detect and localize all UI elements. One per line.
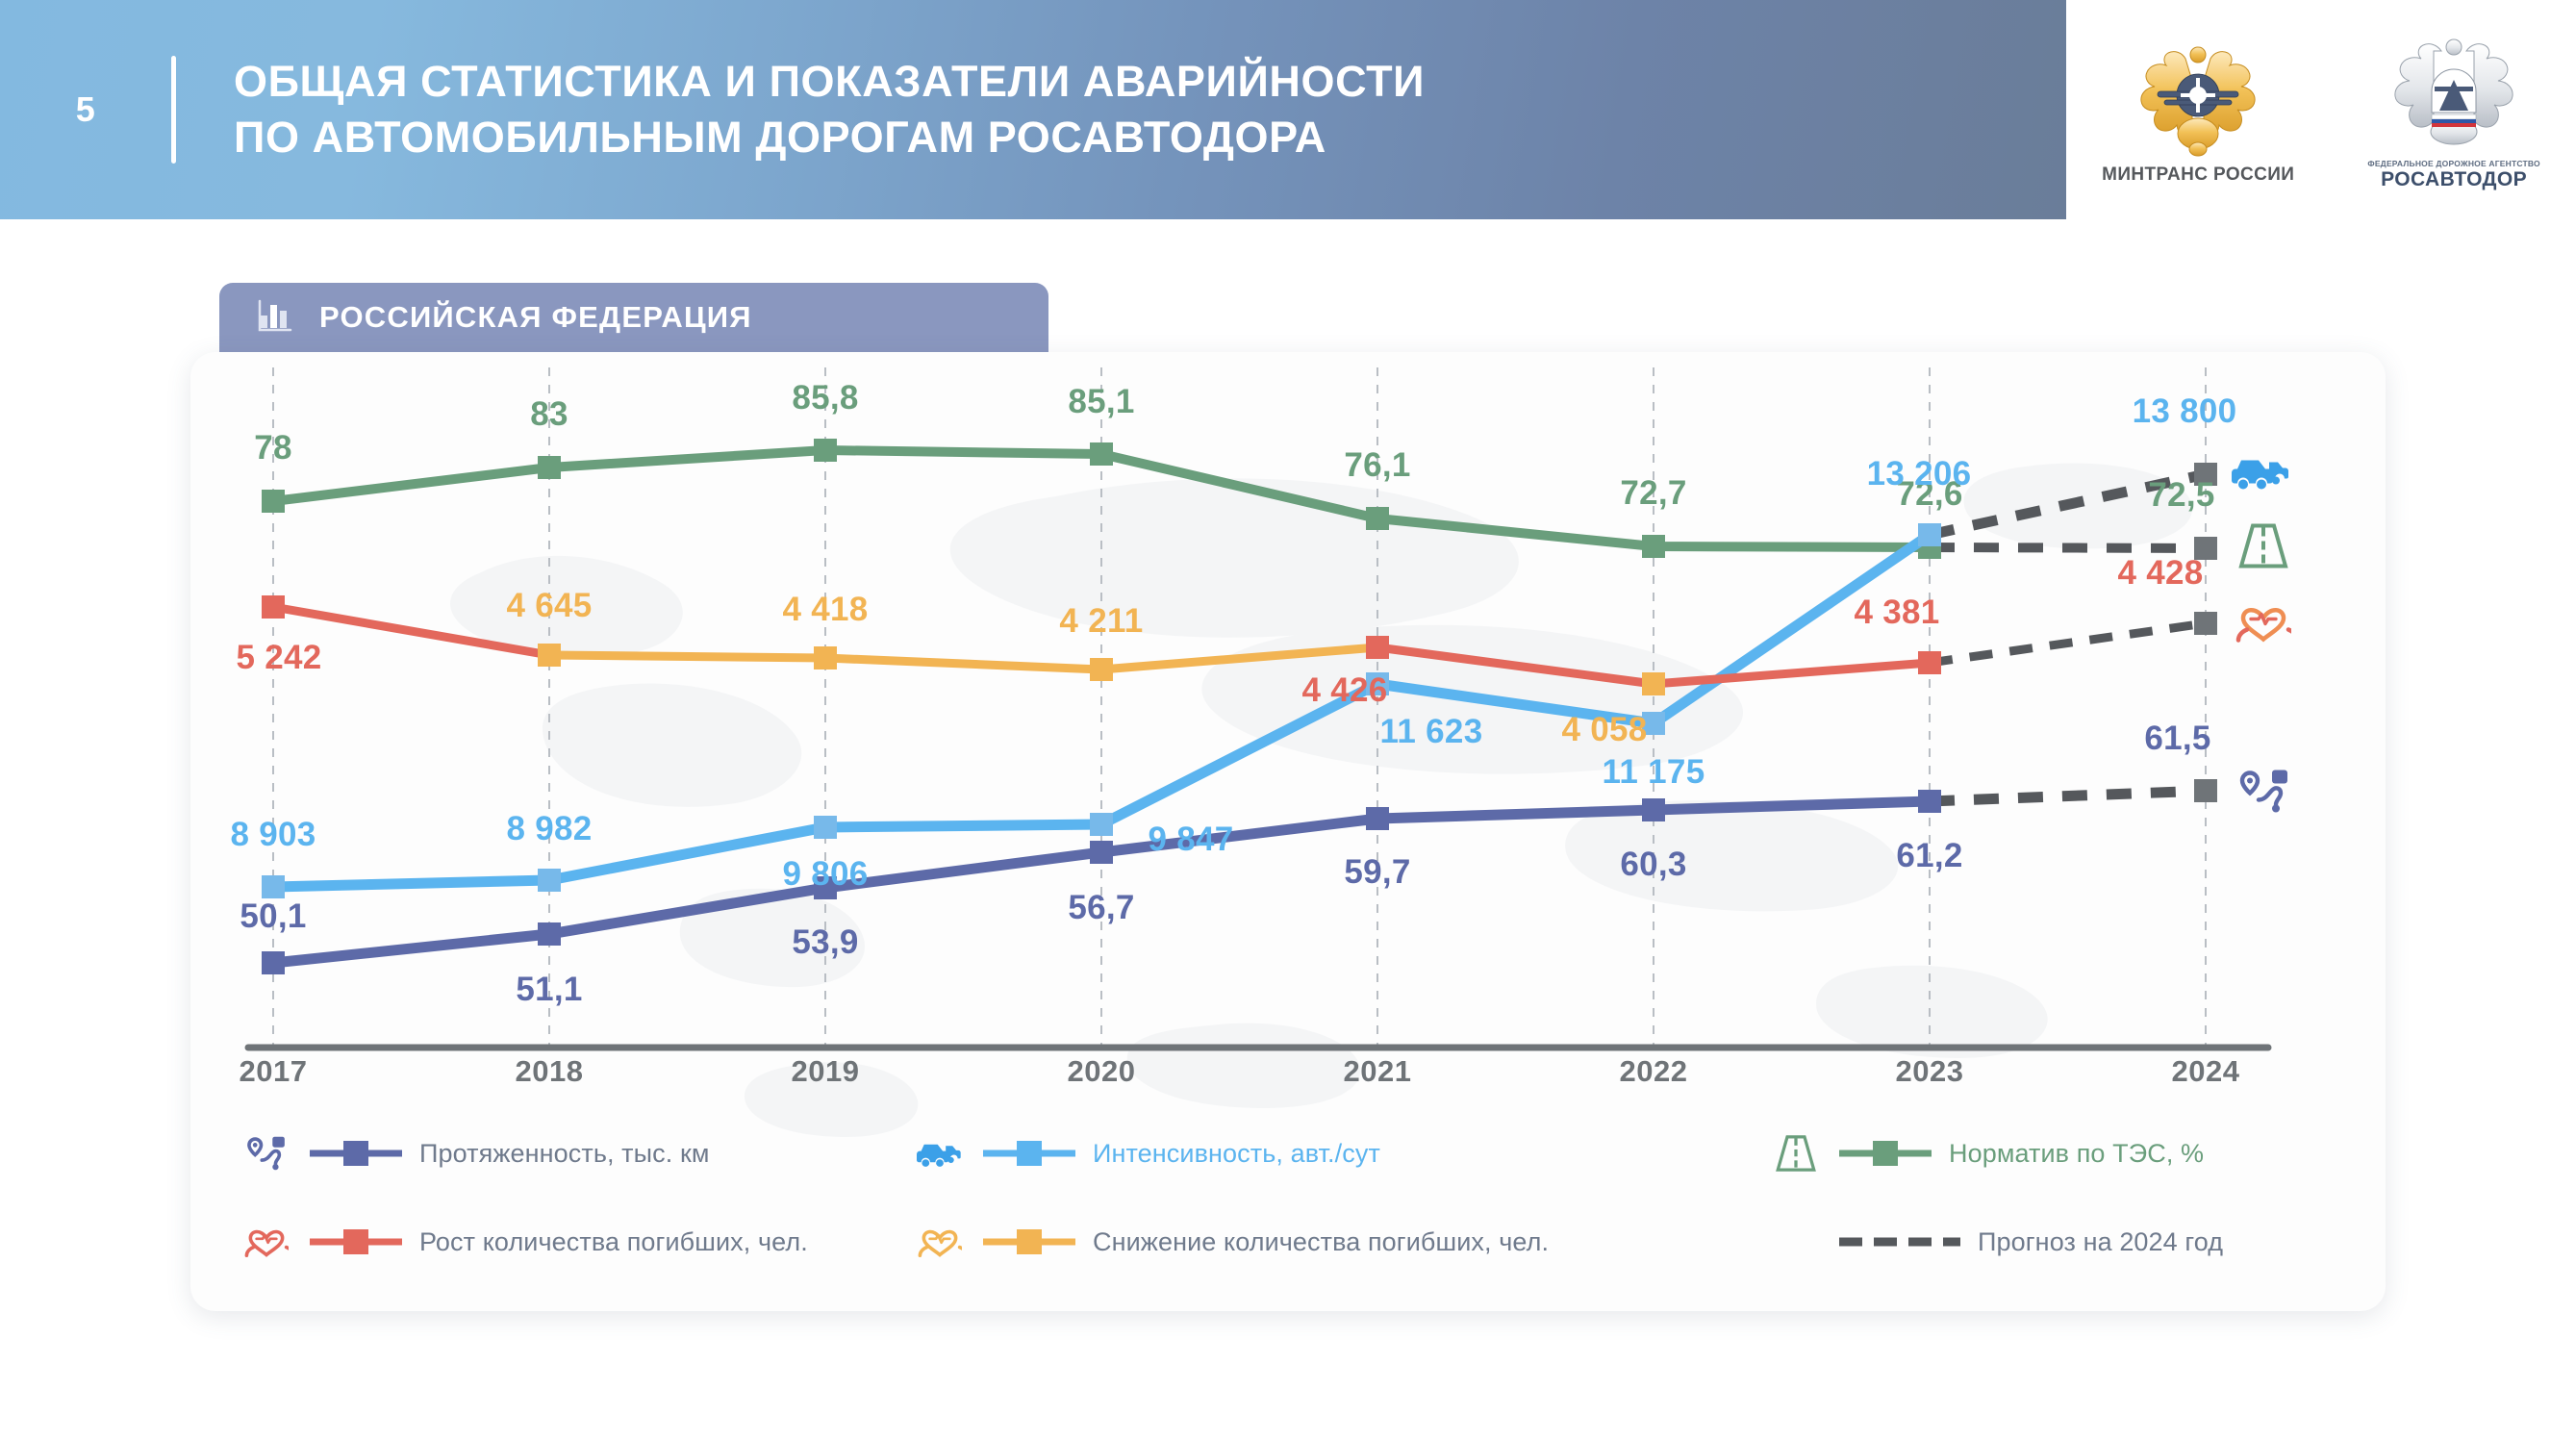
logo-rosavtodor: Федеральное дорожное агентство РОСАВТОДО… — [2367, 28, 2539, 191]
series-deaths-forecast — [1930, 623, 2206, 663]
rosavtodor-subtitle: Федеральное дорожное агентство — [2367, 159, 2539, 168]
legend-item-deaths-decline[interactable]: Снижение количества погибших, чел. — [914, 1220, 1770, 1264]
data-label-deaths-2021: 4 426 — [1301, 671, 1387, 710]
dashed-line-icon — [1839, 1225, 1960, 1258]
legend-swatch-deaths-decline — [983, 1225, 1075, 1258]
data-label-length-2017: 50,1 — [240, 897, 306, 936]
mintrans-eagle-icon — [2126, 34, 2270, 159]
data-label-norm-2018: 83 — [530, 395, 568, 434]
legend-item-norm-tes[interactable]: Норматив по ТЭС, % — [1770, 1131, 2309, 1175]
data-label-length-2023: 61,2 — [1896, 837, 1962, 875]
rosavtodor-eagle-icon — [2382, 28, 2526, 153]
page-number: 5 — [0, 89, 171, 130]
logo-bar: МИНТРАНС РОССИИ — [2066, 0, 2576, 219]
data-label-length-2018: 51,1 — [516, 971, 582, 1009]
x-axis-labels: 2017 2018 2019 2020 2021 2022 2023 2024 — [190, 1054, 2386, 1112]
heart-hands-icon — [240, 1220, 292, 1264]
data-label-deaths-2018: 4 645 — [506, 587, 592, 625]
data-label-intensity-2021: 11 623 — [1380, 713, 1483, 751]
heart-hands-icon — [2235, 599, 2291, 652]
data-label-intensity-2022: 11 175 — [1603, 753, 1705, 792]
legend-label-deaths-decline: Снижение количества погибших, чел. — [1093, 1227, 1549, 1257]
data-label-norm-2022: 72,7 — [1620, 474, 1686, 513]
series-length-forecast-marker — [2194, 779, 2217, 802]
data-label-intensity-2018: 8 982 — [506, 810, 592, 848]
legend-label-deaths-growth: Рост количества погибших, чел. — [419, 1227, 808, 1257]
route-pin-icon — [2237, 769, 2291, 820]
data-label-deaths-2017: 5 242 — [236, 639, 321, 677]
data-label-norm-2019: 85,8 — [792, 379, 858, 417]
x-label-2019: 2019 — [792, 1054, 860, 1089]
data-label-norm-2020: 85,1 — [1068, 383, 1134, 421]
legend-item-forecast[interactable]: Прогноз на 2024 год — [1770, 1220, 2309, 1264]
region-tab-label: РОССИЙСКАЯ ФЕДЕРАЦИЯ — [319, 300, 752, 335]
x-label-2018: 2018 — [516, 1054, 584, 1089]
data-label-norm-2021: 76,1 — [1344, 446, 1410, 485]
mintrans-name: МИНТРАНС РОССИИ — [2102, 164, 2294, 186]
legend-label-forecast: Прогноз на 2024 год — [1978, 1227, 2223, 1257]
rosavtodor-name: РОСАВТОДОР — [2367, 168, 2539, 191]
data-label-length-2022: 60,3 — [1620, 846, 1686, 884]
data-label-deaths-2024: 4 428 — [2117, 554, 2203, 593]
two-cars-icon — [2232, 451, 2291, 498]
route-pin-icon — [240, 1131, 292, 1175]
heart-hands-icon — [914, 1220, 966, 1264]
x-label-2023: 2023 — [1896, 1054, 1964, 1089]
legend-swatch-intensity — [983, 1137, 1075, 1170]
road-icon — [2237, 524, 2289, 573]
logo-mintrans: МИНТРАНС РОССИИ — [2102, 34, 2294, 186]
x-label-2024: 2024 — [2172, 1054, 2240, 1089]
data-label-norm-2017: 78 — [254, 429, 292, 467]
legend-label-norm-tes: Норматив по ТЭС, % — [1949, 1139, 2204, 1169]
data-label-deaths-2023: 4 381 — [1854, 594, 1939, 632]
series-norm-tes-forecast — [1930, 547, 2206, 548]
bar-chart-icon — [256, 296, 294, 340]
data-label-length-2021: 59,7 — [1344, 853, 1410, 892]
legend-swatch-length — [310, 1137, 402, 1170]
data-label-intensity-2017: 8 903 — [230, 816, 316, 854]
data-label-length-2024: 61,5 — [2144, 720, 2210, 758]
page-title-line-2: ПО АВТОМОБИЛЬНЫМ ДОРОГАМ РОСАВТОДОРА — [234, 110, 1425, 166]
chart-legend: Протяженность, тыс. км — [240, 1131, 2357, 1264]
mintrans-caption: МИНТРАНС РОССИИ — [2102, 164, 2294, 186]
data-label-length-2019: 53,9 — [792, 923, 858, 962]
legend-item-intensity[interactable]: Интенсивность, авт./сут — [914, 1131, 1770, 1175]
data-label-intensity-2023: 13 206 — [1867, 455, 1972, 493]
x-label-2020: 2020 — [1068, 1054, 1136, 1089]
x-label-2021: 2021 — [1344, 1054, 1412, 1089]
x-label-2017: 2017 — [240, 1054, 308, 1089]
data-label-deaths-2020: 4 211 — [1059, 602, 1143, 641]
data-label-length-2020: 56,7 — [1068, 889, 1134, 927]
line-chart: 78 83 85,8 85,1 76,1 72,7 72,6 72,5 8 90… — [190, 352, 2386, 1311]
data-label-intensity-2019: 9 806 — [782, 855, 868, 894]
region-tab-russian-federation[interactable]: РОССИЙСКАЯ ФЕДЕРАЦИЯ — [219, 283, 1048, 352]
data-label-intensity-2024: 13 800 — [2133, 392, 2237, 431]
series-length-forecast — [1930, 791, 2206, 801]
page-title-line-1: ОБЩАЯ СТАТИСТИКА И ПОКАЗАТЕЛИ АВАРИЙНОСТ… — [234, 54, 1425, 111]
forecast-placeholder — [1770, 1220, 1822, 1264]
chart-card: 78 83 85,8 85,1 76,1 72,7 72,6 72,5 8 90… — [190, 352, 2386, 1311]
page-title: ОБЩАЯ СТАТИСТИКА И ПОКАЗАТЕЛИ АВАРИЙНОСТ… — [234, 54, 1425, 166]
data-label-deaths-2022: 4 058 — [1561, 711, 1647, 749]
series-deaths-forecast-marker — [2194, 612, 2217, 635]
legend-label-length: Протяженность, тыс. км — [419, 1139, 710, 1169]
legend-item-length[interactable]: Протяженность, тыс. км — [240, 1131, 914, 1175]
header-divider — [171, 56, 176, 164]
legend-swatch-deaths-growth — [310, 1225, 402, 1258]
two-cars-icon — [914, 1131, 966, 1175]
data-label-intensity-2020: 9 847 — [1148, 821, 1233, 859]
data-label-norm-2024: 72,5 — [2148, 476, 2214, 515]
rosavtodor-caption: Федеральное дорожное агентство РОСАВТОДО… — [2367, 159, 2539, 191]
legend-swatch-norm-tes — [1839, 1137, 1932, 1170]
legend-label-intensity: Интенсивность, авт./сут — [1093, 1139, 1380, 1169]
slide-header: 5 ОБЩАЯ СТАТИСТИКА И ПОКАЗАТЕЛИ АВАРИЙНО… — [0, 0, 2066, 219]
road-icon — [1770, 1131, 1822, 1175]
legend-item-deaths-growth[interactable]: Рост количества погибших, чел. — [240, 1220, 914, 1264]
x-label-2022: 2022 — [1620, 1054, 1688, 1089]
data-label-deaths-2019: 4 418 — [782, 591, 868, 629]
